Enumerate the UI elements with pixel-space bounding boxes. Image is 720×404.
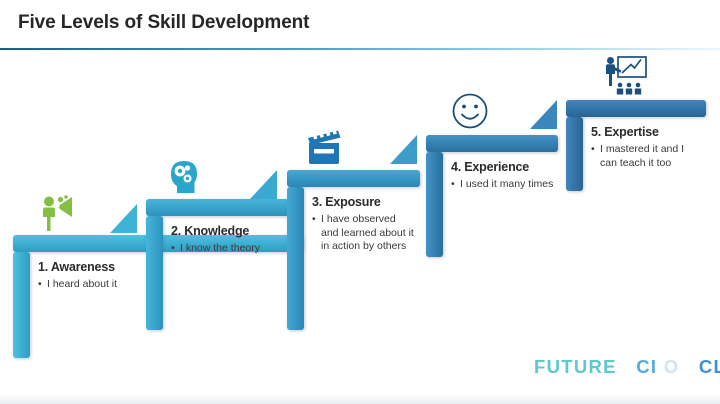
- step-2-knowledge[interactable]: 2. Knowledge I know the theory: [146, 199, 289, 330]
- step-2-bracket: [146, 199, 289, 330]
- step-4-experience[interactable]: 4. Experience I used it many times: [426, 135, 558, 257]
- logo-word-future: FUTURE: [534, 356, 617, 377]
- step-4-bracket: [426, 135, 558, 257]
- teacher-at-whiteboard-icon: [599, 54, 649, 98]
- person-with-megaphone-icon: [37, 193, 83, 233]
- logo-word-o: O: [664, 356, 680, 377]
- step-3-heading: 3. Exposure: [312, 195, 416, 209]
- slide-canvas: Five Levels of Skill Development 1. Awar…: [0, 0, 720, 404]
- step-2-top-bar: [146, 199, 289, 216]
- head-with-gears-icon: [166, 154, 208, 196]
- step-4-heading: 4. Experience: [451, 160, 554, 174]
- bottom-edge-fade: [0, 394, 720, 404]
- step-2-left-leg: [146, 216, 163, 330]
- step-1-left-leg: [13, 252, 30, 358]
- connector-arrow-2: [250, 170, 277, 199]
- staircase-diagram: 1. Awareness I heard about it: [0, 48, 720, 358]
- step-3-text: 3. Exposure I have observed and learned …: [312, 195, 416, 254]
- step-4-bullet: I used it many times: [451, 178, 554, 192]
- logo-word-ci: CI: [636, 356, 657, 377]
- step-3-bullet: I have observed and learned about it in …: [312, 213, 416, 254]
- step-5-expertise[interactable]: 5. Expertise I mastered it and I can tea…: [566, 100, 706, 191]
- step-4-left-leg: [426, 152, 443, 257]
- step-4-top-bar: [426, 135, 558, 152]
- page-title: Five Levels of Skill Development: [18, 12, 309, 34]
- connector-arrow-4: [530, 100, 557, 129]
- step-3-left-leg: [287, 187, 304, 330]
- step-2-text: 2. Knowledge I know the theory: [171, 224, 281, 256]
- step-5-left-leg: [566, 117, 583, 191]
- logo-word-club: CLUB: [699, 356, 720, 377]
- step-5-top-bar: [566, 100, 706, 117]
- smiley-face-icon: [450, 91, 490, 131]
- step-3-top-bar: [287, 170, 420, 187]
- step-5-bullet: I mastered it and I can teach it too: [591, 143, 703, 170]
- connector-arrow-1: [110, 204, 137, 233]
- step-2-bullet: I know the theory: [171, 242, 281, 256]
- step-2-heading: 2. Knowledge: [171, 224, 281, 238]
- step-3-exposure[interactable]: 3. Exposure I have observed and learned …: [287, 170, 420, 330]
- step-4-text: 4. Experience I used it many times: [451, 160, 554, 192]
- future-cio-club-logo: FUTURE CI O CLUB: [534, 356, 720, 378]
- step-5-text: 5. Expertise I mastered it and I can tea…: [591, 125, 703, 170]
- film-clapperboard-icon: [305, 125, 349, 167]
- connector-arrow-3: [390, 135, 417, 164]
- step-5-heading: 5. Expertise: [591, 125, 703, 139]
